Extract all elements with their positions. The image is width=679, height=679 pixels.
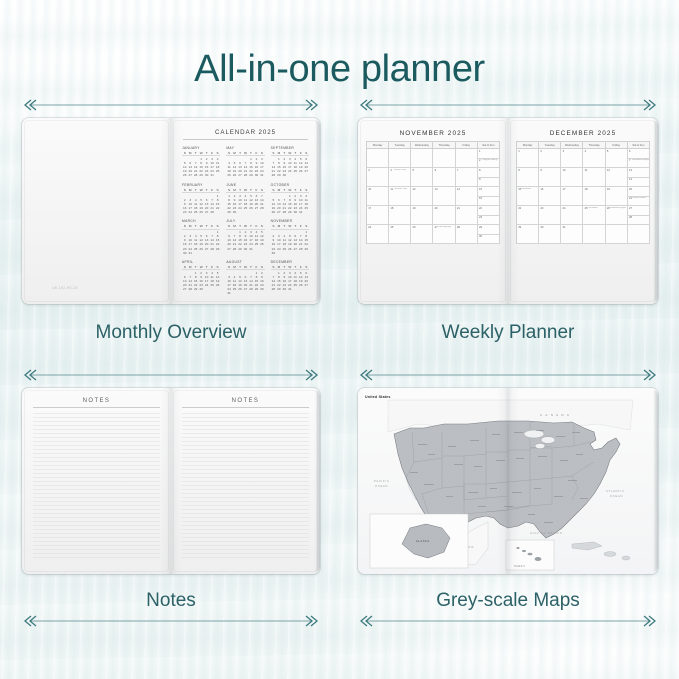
notes-heading-right: NOTES xyxy=(171,398,320,404)
us-map-graphic: C A N A D A xyxy=(358,388,658,574)
calendar-month-name: SEPTEMBER xyxy=(271,146,309,150)
calendar-dow: S xyxy=(215,151,220,155)
weekly-day-cell[interactable]: 20 xyxy=(433,206,455,225)
weekly-day-cell[interactable]: 67Hanukkah begins xyxy=(628,149,650,168)
caption-greyscale-maps: Grey-scale Maps xyxy=(358,590,658,612)
notebook-notes: NOTES NOTES xyxy=(22,388,320,574)
weekly-day-number: 8 xyxy=(518,169,520,172)
weekly-heading-left: NOVEMBER 2025 xyxy=(358,130,508,137)
calendar-day: . xyxy=(259,291,264,295)
calendar-month-name: APRIL xyxy=(182,260,220,264)
weekly-day-number: 4 xyxy=(585,150,587,153)
calendar-dow-header: SMTWTFS xyxy=(182,224,220,229)
calendar-dow: S xyxy=(259,151,264,155)
calendar-dow-header: SMTWTFS xyxy=(271,151,309,156)
weekly-day-number: 26 xyxy=(413,226,416,229)
weekly-week-row: 34Election Day56789 xyxy=(367,168,500,187)
calendar-day: . xyxy=(259,247,264,251)
weekly-day-cell[interactable]: 16 xyxy=(539,187,561,206)
weekly-day-cell[interactable] xyxy=(456,149,478,168)
weekly-day-number-secondary: 16 xyxy=(479,197,482,200)
calendar-dow: S xyxy=(215,188,220,192)
weekly-day-number: 4 xyxy=(390,169,392,172)
calendar-month: AUGUSTSMTWTFS.....1234567891011121314151… xyxy=(226,260,264,296)
calendar-dow: S xyxy=(304,151,309,155)
weekly-day-number-secondary: 30 xyxy=(479,235,482,238)
weekly-day-number: 1 xyxy=(479,150,481,153)
notes-page-left: NOTES xyxy=(22,388,171,574)
weekly-day-cell[interactable]: 6 xyxy=(433,168,455,187)
weekly-day-cell[interactable]: 19 xyxy=(411,206,433,225)
weekly-day-cell[interactable] xyxy=(583,225,605,244)
weekly-day-cell[interactable]: 11 xyxy=(583,168,605,187)
svg-text:PACIFIC: PACIFIC xyxy=(374,479,390,483)
weekly-day-cell[interactable] xyxy=(411,149,433,168)
calendar-month: APRILSMTWTFS..12345678910111213141516171… xyxy=(182,260,220,296)
calendar-day: . xyxy=(304,251,309,255)
weekly-day-number: 3 xyxy=(368,169,370,172)
calendar-dow-header: SMTWTFS xyxy=(226,265,264,270)
weekly-page-right: DECEMBER 2025 MondayTuesdayWednesdayThur… xyxy=(508,118,658,304)
weekly-grid-left: MondayTuesdayWednesdayThursdayFridaySat … xyxy=(366,141,500,244)
weekly-day-cell[interactable]: 25 xyxy=(389,225,411,244)
weekly-day-number: 17 xyxy=(563,188,566,191)
calendar-month-name: FEBRUARY xyxy=(182,183,220,187)
weekly-holiday-label: Christmas xyxy=(588,207,598,209)
weekly-day-number: 29 xyxy=(479,226,482,229)
weekly-holiday-label: Election Day xyxy=(394,169,406,171)
notebook-map: United States 2 3 xyxy=(358,388,658,574)
notes-heading-left: NOTES xyxy=(22,398,171,404)
map-title: United States xyxy=(365,395,391,399)
calendar-day: . xyxy=(304,173,309,177)
calendar-dow-header: SMTWTFS xyxy=(226,224,264,229)
calendar-heading: CALENDAR 2025 xyxy=(171,129,320,136)
notes-divider-left xyxy=(33,407,160,408)
calendar-dow: S xyxy=(304,265,309,269)
weekly-day-number: 21 xyxy=(457,207,460,210)
weekly-column-header: Monday xyxy=(367,142,389,149)
weekly-day-cell[interactable]: 27Thanksgiving xyxy=(433,225,455,244)
calendar-page-right: CALENDAR 2025 JANUARYSMTWTFS...123456789… xyxy=(171,118,320,304)
calendar-month-name: AUGUST xyxy=(226,260,264,264)
calendar-month-name: MAY xyxy=(226,146,264,150)
weekly-day-cell[interactable] xyxy=(606,225,628,244)
calendar-dow-header: SMTWTFS xyxy=(226,188,264,193)
arrow-monthly-overview xyxy=(22,98,320,110)
weekly-day-cell[interactable]: 26 xyxy=(411,225,433,244)
calendar-day: . xyxy=(215,210,220,214)
weekly-day-number-secondary: 7 xyxy=(629,159,631,162)
weekly-column-header: Tuesday xyxy=(539,142,561,149)
weekly-day-cell[interactable]: 29 xyxy=(517,225,539,244)
calendar-dow: S xyxy=(215,224,220,228)
weekly-day-cell[interactable]: 3 xyxy=(561,149,583,168)
weekly-day-number: 30 xyxy=(540,226,543,229)
weekly-column-header: Friday xyxy=(606,142,628,149)
svg-text:OCEAN: OCEAN xyxy=(610,494,623,498)
weekly-holiday-label: Kwanzaa begins xyxy=(610,207,626,209)
notes-ruled-lines-left xyxy=(33,410,160,560)
weekly-day-number: 5 xyxy=(413,169,415,172)
weekly-day-cell[interactable]: 5 xyxy=(606,149,628,168)
weekly-day-cell[interactable]: 17 xyxy=(367,206,389,225)
weekly-day-number: 22 xyxy=(518,207,521,210)
calendar-month-name: NOVEMBER xyxy=(271,219,309,223)
weekly-column-header: Monday xyxy=(517,142,539,149)
panel-weekly-planner[interactable]: NOVEMBER 2025 MondayTuesdayWednesdayThur… xyxy=(358,118,658,304)
calendar-month-name: JULY xyxy=(226,219,264,223)
weekly-day-number: 12 xyxy=(413,188,416,191)
weekly-day-cell[interactable]: 12 xyxy=(606,168,628,187)
weekly-column-header: Thursday xyxy=(433,142,455,149)
panel-notes[interactable]: NOTES NOTES xyxy=(22,388,320,574)
calendar-day: . xyxy=(304,210,309,214)
calendar-day: . xyxy=(215,173,220,177)
weekly-heading-right: DECEMBER 2025 xyxy=(508,130,658,137)
svg-text:C A N A D A: C A N A D A xyxy=(540,413,570,417)
calendar-dow: S xyxy=(304,224,309,228)
weekly-day-number: 13 xyxy=(435,188,438,191)
calendar-week-row: 2930..... xyxy=(226,210,264,214)
caption-notes: Notes xyxy=(22,590,320,612)
weekly-day-cell[interactable]: 1 xyxy=(517,149,539,168)
weekly-day-cell[interactable]: 19 xyxy=(606,187,628,206)
weekly-day-cell[interactable]: 14 xyxy=(456,187,478,206)
calendar-week-row: 27282930... xyxy=(182,287,220,291)
weekly-day-cell[interactable] xyxy=(367,149,389,168)
weekly-day-cell[interactable]: 2021Winter solstice xyxy=(628,187,650,206)
caption-monthly-overview: Monthly Overview xyxy=(22,322,320,344)
svg-text:HAWAII: HAWAII xyxy=(514,565,525,568)
caption-weekly-planner: Weekly Planner xyxy=(358,322,658,344)
weekly-day-cell[interactable]: 17 xyxy=(561,187,583,206)
calendar-dow-header: SMTWTFS xyxy=(271,188,309,193)
weekly-day-number: 24 xyxy=(563,207,566,210)
weekly-day-cell[interactable]: 2 xyxy=(539,149,561,168)
weekly-day-cell[interactable]: 2223 xyxy=(478,206,500,225)
calendar-month: JUNESMTWTFS12345678910111213141516171819… xyxy=(226,183,264,215)
weekly-grid-right: MondayTuesdayWednesdayThursdayFridaySat … xyxy=(516,141,650,244)
calendar-dow: S xyxy=(259,188,264,192)
notes-divider-right xyxy=(182,407,309,408)
weekly-week-row: 12Daylight saving xyxy=(367,149,500,168)
weekly-column-header: Sat & Sun xyxy=(478,142,500,149)
weekly-week-row: 891011121314 xyxy=(517,168,650,187)
calendar-month: NOVEMBERSMTWTFS......1234567891011121314… xyxy=(271,219,309,255)
calendar-dow: S xyxy=(259,224,264,228)
calendar-month-name: JANUARY xyxy=(182,146,220,150)
weekly-day-cell[interactable]: 7 xyxy=(456,168,478,187)
weekly-day-cell[interactable]: 89 xyxy=(478,168,500,187)
weekly-day-number: 24 xyxy=(368,226,371,229)
weekly-day-number: 20 xyxy=(629,188,632,191)
weekly-column-header: Thursday xyxy=(583,142,605,149)
weekly-day-cell[interactable]: 12Daylight saving xyxy=(478,149,500,168)
notebook-weekly: NOVEMBER 2025 MondayTuesdayWednesdayThur… xyxy=(358,118,658,304)
weekly-day-number: 3 xyxy=(563,150,565,153)
weekly-day-number: 1 xyxy=(518,150,520,153)
notes-page-right: NOTES xyxy=(171,388,320,574)
weekly-day-number: 29 xyxy=(518,226,521,229)
weekly-day-cell[interactable] xyxy=(628,225,650,244)
weekly-week-row: 22232425Christmas26Kwanzaa begins2728 xyxy=(517,206,650,225)
calendar-day: . xyxy=(215,287,220,291)
arrow-greyscale-maps xyxy=(358,368,658,380)
calendar-week-row: 31...... xyxy=(226,291,264,295)
calendar-dow-header: SMTWTFS xyxy=(182,151,220,156)
weekly-day-number: 11 xyxy=(585,169,588,172)
weekly-day-number: 19 xyxy=(413,207,416,210)
weekly-day-number-secondary: 28 xyxy=(629,216,632,219)
calendar-week-row: 282930.... xyxy=(271,173,309,177)
weekly-day-number: 23 xyxy=(540,207,543,210)
weekly-day-cell[interactable]: 24 xyxy=(367,225,389,244)
weekly-day-number: 6 xyxy=(435,169,437,172)
calendar-week-row: 262728293031. xyxy=(271,210,309,214)
calendar-month: MAYSMTWTFS....12345678910111213141516171… xyxy=(226,146,264,178)
weekly-holiday-label: Thanksgiving xyxy=(438,226,451,228)
calendar-month: JANUARYSMTWTFS...12345678910111213141516… xyxy=(182,146,220,178)
weekly-day-cell[interactable]: 3 xyxy=(367,168,389,187)
weekly-holiday-label-secondary: Hanukkah begins xyxy=(632,159,649,161)
weekly-day-number-secondary: 2 xyxy=(479,159,481,162)
weekly-day-number: 14 xyxy=(457,188,460,191)
calendar-week-row: 30...... xyxy=(271,251,309,255)
weekly-day-cell[interactable]: 12 xyxy=(411,187,433,206)
panel-greyscale-maps[interactable]: United States 2 3 xyxy=(358,388,658,574)
calendar-week-row: 262728293031. xyxy=(182,173,220,177)
weekly-day-cell[interactable]: 10 xyxy=(561,168,583,187)
calendar-page-left: LW-192-HS-25 xyxy=(22,118,171,304)
weekly-day-number: 17 xyxy=(368,207,371,210)
weekly-holiday-label-secondary: Winter solstice xyxy=(632,197,646,199)
weekly-column-header: Wednesday xyxy=(561,142,583,149)
weekly-day-cell[interactable]: 1516 xyxy=(478,187,500,206)
calendar-month: DECEMBERSMTWTFS.123456789101112131415161… xyxy=(271,260,309,296)
weekly-holiday-label: Veterans Day xyxy=(394,188,407,190)
weekly-day-number: 12 xyxy=(607,169,610,172)
weekly-day-cell[interactable] xyxy=(433,149,455,168)
weekly-week-row: 1234567Hanukkah begins xyxy=(517,149,650,168)
weekly-column-header: Friday xyxy=(456,142,478,149)
calendar-month: SEPTEMBERSMTWTFS.12345678910111213141516… xyxy=(271,146,309,178)
weekly-page-left: NOVEMBER 2025 MondayTuesdayWednesdayThur… xyxy=(358,118,508,304)
weekly-column-header: Wednesday xyxy=(411,142,433,149)
weekly-day-cell[interactable]: 8 xyxy=(517,168,539,187)
svg-text:ATLANTIC: ATLANTIC xyxy=(606,489,625,493)
weekly-day-cell[interactable]: 21 xyxy=(456,206,478,225)
calendar-dow-header: SMTWTFS xyxy=(226,151,264,156)
weekly-day-number: 27 xyxy=(629,207,632,210)
arrow-notes xyxy=(22,368,320,380)
weekly-day-cell[interactable] xyxy=(389,149,411,168)
weekly-week-row: 293031 xyxy=(517,225,650,244)
weekly-day-number: 20 xyxy=(435,207,438,210)
weekly-day-number: 7 xyxy=(457,169,459,172)
calendar-week-row: 28293031... xyxy=(271,287,309,291)
weekly-day-cell[interactable]: 4 xyxy=(583,149,605,168)
weekly-day-cell[interactable]: 26Kwanzaa begins xyxy=(606,206,628,225)
weekly-day-number: 22 xyxy=(479,207,482,210)
weekly-column-header: Sat & Sun xyxy=(628,142,650,149)
weekly-day-number: 31 xyxy=(563,226,566,229)
weekly-day-number: 28 xyxy=(457,226,460,229)
weekly-day-cell[interactable]: 23 xyxy=(539,206,561,225)
calendar-dow-header: SMTWTFS xyxy=(182,188,220,193)
weekly-day-cell[interactable]: 2728 xyxy=(628,206,650,225)
calendar-month: FEBRUARYSMTWTFS......1234567891011121314… xyxy=(182,183,220,215)
weekly-day-cell[interactable]: 9 xyxy=(539,168,561,187)
panel-monthly-overview[interactable]: LW-192-HS-25 CALENDAR 2025 JANUARYSMTWTF… xyxy=(22,118,320,304)
weekly-day-cell[interactable]: 28 xyxy=(456,225,478,244)
notes-ruled-lines-right xyxy=(182,410,309,560)
weekly-day-cell[interactable]: 18 xyxy=(389,206,411,225)
arrow-greyscale-maps-bottom xyxy=(358,614,658,626)
calendar-dow: S xyxy=(304,188,309,192)
calendar-month-name: OCTOBER xyxy=(271,183,309,187)
weekly-week-row: 15Hanukkah161718192021Winter solstice xyxy=(517,187,650,206)
weekly-day-number: 25 xyxy=(390,226,393,229)
calendar-week-row: 25262728293031 xyxy=(226,173,264,177)
svg-text:OCEAN: OCEAN xyxy=(375,484,388,488)
calendar-day: . xyxy=(215,251,220,255)
calendar-dow: S xyxy=(259,265,264,269)
weekly-day-number-secondary: 23 xyxy=(479,216,482,219)
calendar-week-row: 3031..... xyxy=(182,251,220,255)
calendar-day: . xyxy=(304,287,309,291)
weekly-column-headers: MondayTuesdayWednesdayThursdayFridaySat … xyxy=(517,142,650,149)
weekly-day-number: 18 xyxy=(390,207,393,210)
weekly-day-number: 6 xyxy=(629,150,631,153)
weekly-day-number: 10 xyxy=(563,169,566,172)
calendar-dow-header: SMTWTFS xyxy=(271,265,309,270)
weekly-week-row: 24252627Thanksgiving282930 xyxy=(367,225,500,244)
weekly-week-row: 1011Veterans Day1213141516 xyxy=(367,187,500,206)
calendar-day: . xyxy=(259,210,264,214)
calendar-dow: S xyxy=(215,265,220,269)
calendar-day: 31 xyxy=(259,173,264,177)
calendar-divider xyxy=(183,139,308,140)
weekly-day-cell[interactable]: 15Hanukkah xyxy=(517,187,539,206)
weekly-holiday-label: Hanukkah xyxy=(521,188,531,190)
weekly-day-number: 10 xyxy=(368,188,371,191)
weekly-day-cell[interactable]: 22 xyxy=(517,206,539,225)
weekly-day-cell[interactable]: 11Veterans Day xyxy=(389,187,411,206)
calendar-dow-header: SMTWTFS xyxy=(182,265,220,270)
calendar-months-grid: JANUARYSMTWTFS...12345678910111213141516… xyxy=(171,146,320,295)
calendar-month-name: JUNE xyxy=(226,183,264,187)
page-title: All-in-one planner xyxy=(0,48,679,91)
svg-text:GULF OF MEXICO: GULF OF MEXICO xyxy=(530,532,563,535)
weekly-day-cell[interactable]: 2930 xyxy=(478,225,500,244)
weekly-day-cell[interactable]: 18 xyxy=(583,187,605,206)
weekly-day-number-secondary: 9 xyxy=(479,178,481,181)
calendar-month: JULYSMTWTFS..123456789101112131415161718… xyxy=(226,219,264,255)
calendar-month-name: MARCH xyxy=(182,219,220,223)
weekly-day-cell[interactable]: 13 xyxy=(433,187,455,206)
notebook-monthly: LW-192-HS-25 CALENDAR 2025 JANUARYSMTWTF… xyxy=(22,118,320,304)
weekly-day-cell[interactable]: 24 xyxy=(561,206,583,225)
calendar-month: MARCHSMTWTFS......1234567891011121314151… xyxy=(182,219,220,255)
product-sku: LW-192-HS-25 xyxy=(52,286,78,290)
weekly-holiday-label-secondary: Daylight saving xyxy=(482,159,497,161)
weekly-week-row: 17181920212223 xyxy=(367,206,500,225)
weekly-day-cell[interactable]: 31 xyxy=(561,225,583,244)
weekly-column-header: Tuesday xyxy=(389,142,411,149)
weekly-day-number: 15 xyxy=(479,188,482,191)
weekly-day-cell[interactable]: 25Christmas xyxy=(583,206,605,225)
weekly-day-number: 16 xyxy=(540,188,543,191)
weekly-day-number: 18 xyxy=(585,188,588,191)
weekly-day-cell[interactable]: 1314 xyxy=(628,168,650,187)
calendar-week-row: 2728293031.. xyxy=(226,247,264,251)
arrow-weekly-planner xyxy=(358,98,658,110)
weekly-day-number: 13 xyxy=(629,169,632,172)
weekly-day-number: 5 xyxy=(607,150,609,153)
calendar-month-name: DECEMBER xyxy=(271,260,309,264)
weekly-day-cell[interactable]: 4Election Day xyxy=(389,168,411,187)
weekly-day-cell[interactable]: 30 xyxy=(539,225,561,244)
weekly-day-number: 19 xyxy=(607,188,610,191)
weekly-day-number-secondary: 14 xyxy=(629,178,632,181)
weekly-column-headers: MondayTuesdayWednesdayThursdayFridaySat … xyxy=(367,142,500,149)
weekly-day-number: 8 xyxy=(479,169,481,172)
calendar-month: OCTOBERSMTWTFS...12345678910111213141516… xyxy=(271,183,309,215)
weekly-day-cell[interactable]: 10 xyxy=(367,187,389,206)
weekly-day-cell[interactable]: 5 xyxy=(411,168,433,187)
arrow-notes-bottom xyxy=(22,614,320,626)
weekly-day-number: 9 xyxy=(540,169,542,172)
svg-text:ALASKA: ALASKA xyxy=(416,539,430,543)
calendar-dow-header: SMTWTFS xyxy=(271,224,309,229)
weekly-day-number: 2 xyxy=(540,150,542,153)
calendar-week-row: 232425262728. xyxy=(182,210,220,214)
